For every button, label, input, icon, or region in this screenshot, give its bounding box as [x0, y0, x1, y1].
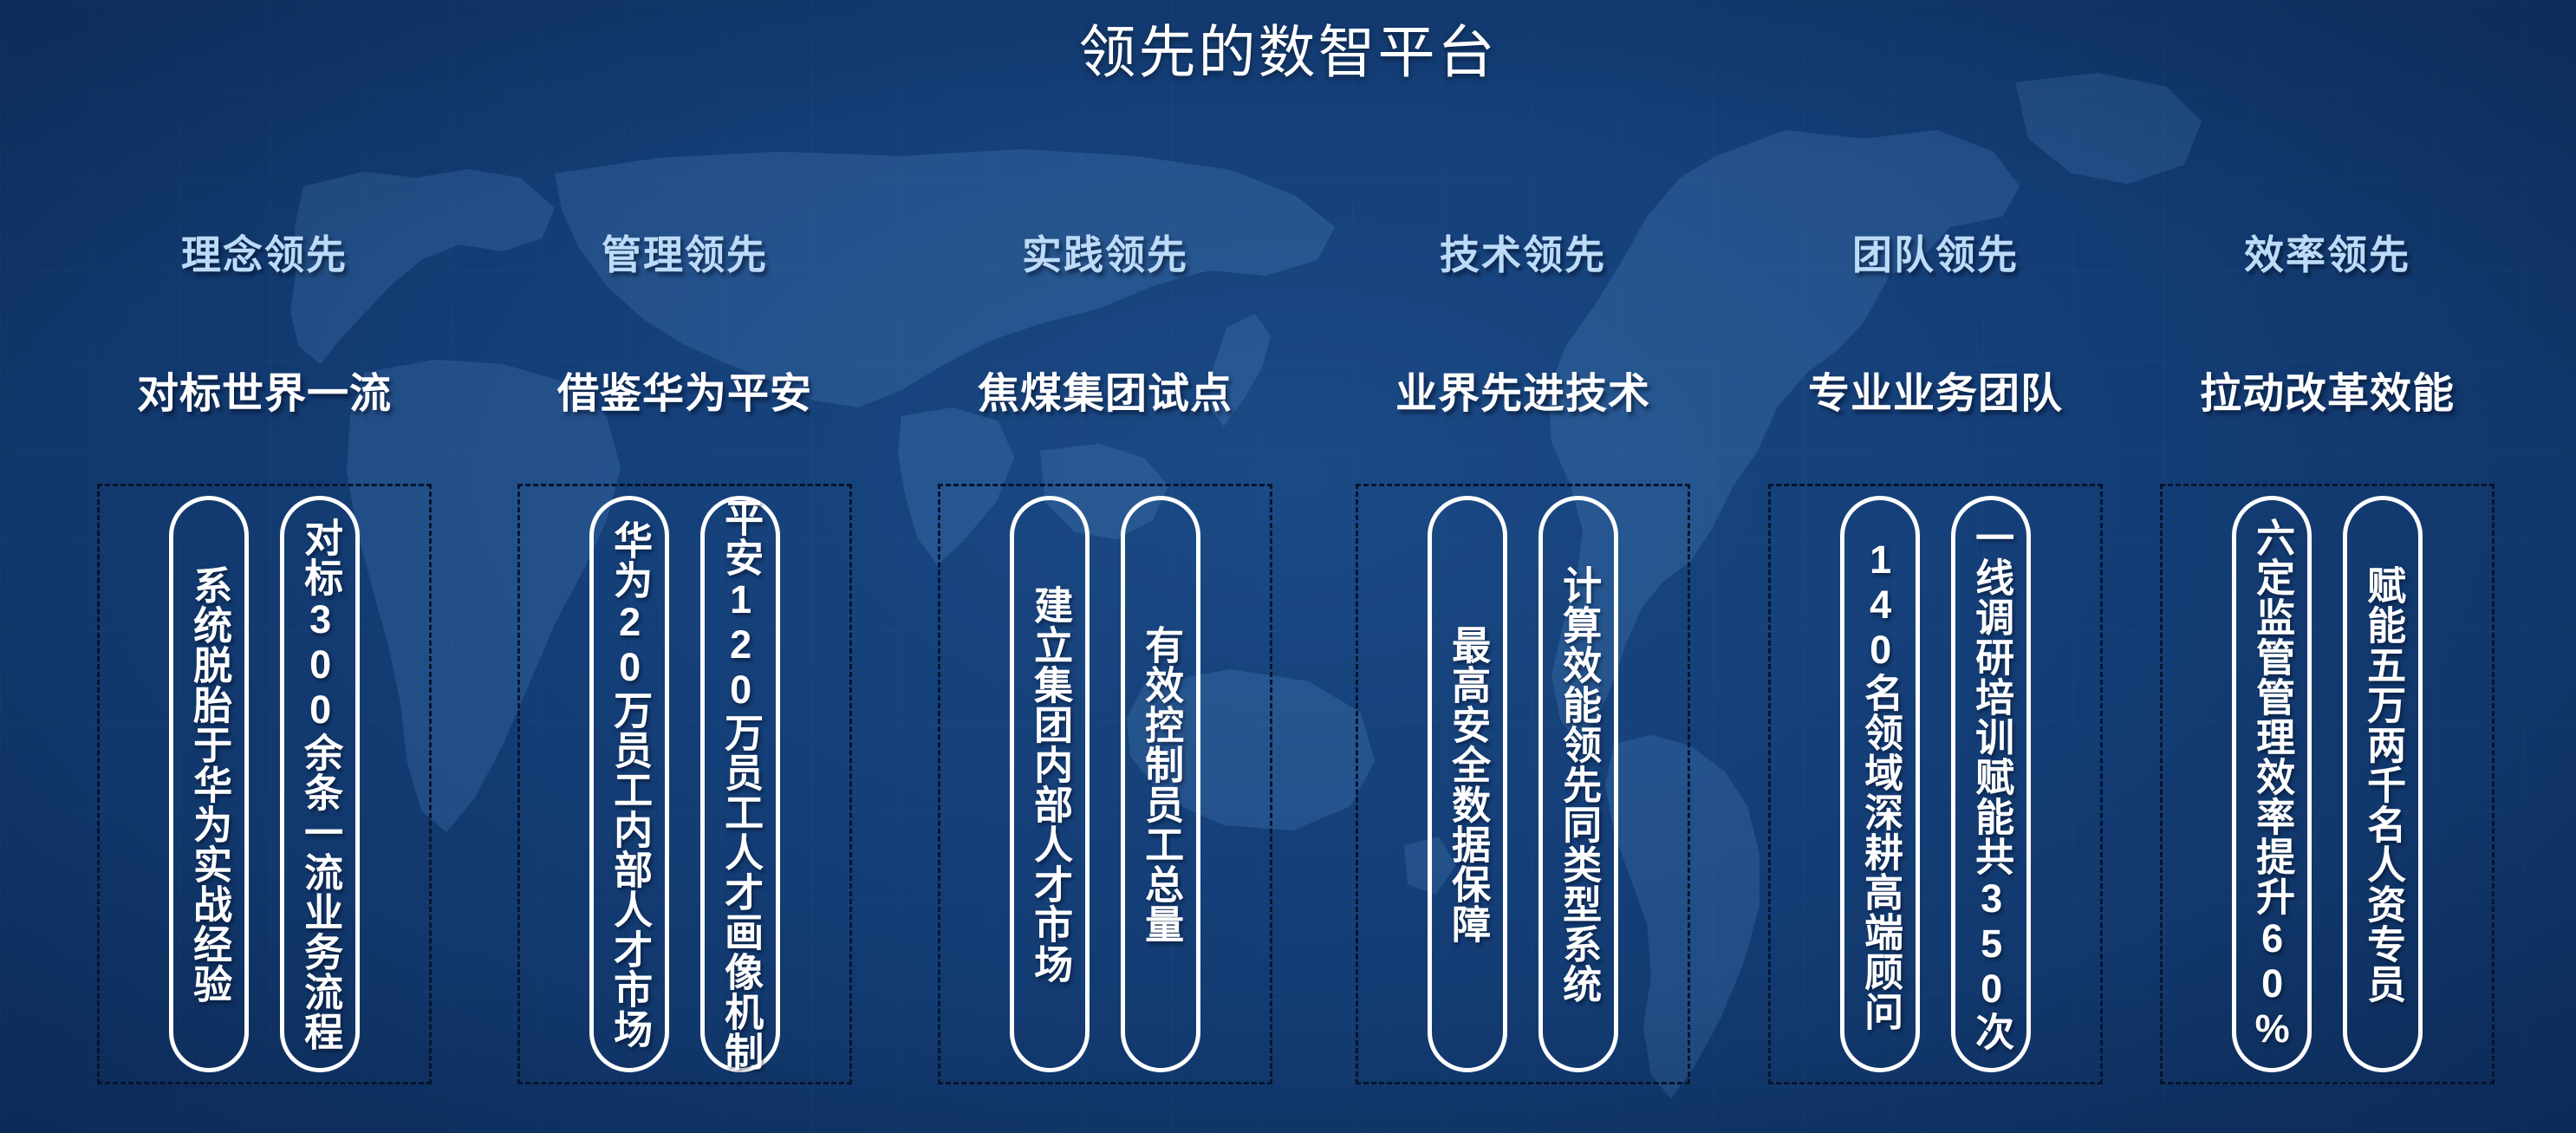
column-heading: 技术领先: [1311, 224, 1735, 281]
column-heading: 团队领先: [1723, 224, 2148, 281]
pill-capsule[interactable]: 六定监管管理效率提升60%: [2232, 496, 2312, 1072]
pill-capsule[interactable]: 对标300余条一流业务流程: [280, 496, 360, 1072]
column-subheading: 对标世界一流: [52, 359, 477, 420]
pill-row: 六定监管管理效率提升60% 赋能五万两千名人资专员: [2160, 496, 2495, 1072]
pill-label: 华为20万员工内部人才市场: [609, 520, 649, 1049]
pill-label: 对标300余条一流业务流程: [300, 518, 340, 1052]
pill-capsule[interactable]: 计算效能领先同类型系统: [1538, 496, 1618, 1072]
column-heading: 管理领先: [472, 224, 897, 281]
column-technology: 技术领先 业界先进技术 最高安全数据保障 计算效能领先同类型系统: [1311, 0, 1735, 1133]
column-subheading: 借鉴华为平安: [472, 359, 897, 420]
pill-row: 华为20万员工内部人才市场 平安120万员工人才画像机制: [517, 496, 852, 1072]
pill-capsule[interactable]: 140名领域深耕高端顾问: [1840, 496, 1920, 1072]
pill-row: 140名领域深耕高端顾问 一线调研培训赋能共350次: [1768, 496, 2103, 1072]
column-heading: 实践领先: [893, 224, 1317, 281]
pill-capsule[interactable]: 有效控制员工总量: [1121, 496, 1200, 1072]
column-practice: 实践领先 焦煤集团试点 建立集团内部人才市场 有效控制员工总量: [893, 0, 1317, 1133]
column-heading: 理念领先: [52, 224, 477, 281]
pill-capsule[interactable]: 最高安全数据保障: [1428, 496, 1507, 1072]
column-heading: 效率领先: [2115, 224, 2540, 281]
pill-label: 平安120万员工人才画像机制: [720, 498, 760, 1071]
column-management: 管理领先 借鉴华为平安 华为20万员工内部人才市场 平安120万员工人才画像机制: [472, 0, 897, 1133]
column-subheading: 专业业务团队: [1723, 359, 2148, 420]
pill-row: 系统脱胎于华为实战经验 对标300余条一流业务流程: [97, 496, 432, 1072]
pill-row: 最高安全数据保障 计算效能领先同类型系统: [1356, 496, 1690, 1072]
pill-label: 最高安全数据保障: [1447, 625, 1487, 944]
pill-label: 一线调研培训赋能共350次: [1971, 518, 2011, 1052]
column-subheading: 焦煤集团试点: [893, 359, 1317, 420]
pill-label: 六定监管管理效率提升60%: [2252, 518, 2292, 1052]
pill-label: 有效控制员工总量: [1141, 625, 1181, 944]
column-subheading: 业界先进技术: [1311, 359, 1735, 420]
pill-capsule[interactable]: 赋能五万两千名人资专员: [2343, 496, 2423, 1072]
pill-label: 计算效能领先同类型系统: [1558, 565, 1598, 1004]
pill-capsule[interactable]: 系统脱胎于华为实战经验: [169, 496, 249, 1072]
columns-container: 理念领先 对标世界一流 系统脱胎于华为实战经验 对标300余条一流业务流程 管理…: [0, 0, 2576, 1133]
pill-capsule[interactable]: 华为20万员工内部人才市场: [589, 496, 669, 1072]
pill-capsule[interactable]: 一线调研培训赋能共350次: [1951, 496, 2031, 1072]
pill-capsule[interactable]: 建立集团内部人才市场: [1010, 496, 1090, 1072]
column-concept: 理念领先 对标世界一流 系统脱胎于华为实战经验 对标300余条一流业务流程: [52, 0, 477, 1133]
pill-label: 建立集团内部人才市场: [1030, 585, 1070, 984]
column-subheading: 拉动改革效能: [2115, 359, 2540, 420]
column-efficiency: 效率领先 拉动改革效能 六定监管管理效率提升60% 赋能五万两千名人资专员: [2115, 0, 2540, 1133]
pill-label: 赋能五万两千名人资专员: [2363, 565, 2403, 1004]
pill-label: 140名领域深耕高端顾问: [1860, 537, 1900, 1032]
pill-label: 系统脱胎于华为实战经验: [189, 565, 229, 1004]
pill-row: 建立集团内部人才市场 有效控制员工总量: [938, 496, 1272, 1072]
pill-capsule[interactable]: 平安120万员工人才画像机制: [700, 496, 780, 1072]
column-team: 团队领先 专业业务团队 140名领域深耕高端顾问 一线调研培训赋能共350次: [1723, 0, 2148, 1133]
